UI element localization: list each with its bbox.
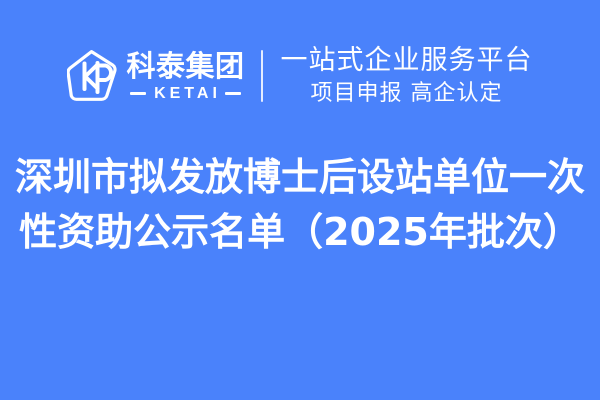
brand-name-cn: 科泰集团 [126,51,244,82]
brand-name-en: KETAI [150,85,221,102]
page-title-line-1: 深圳市拟发放博士后设站单位一次 [0,150,600,205]
brand-lockup: 科泰集团 KETAI [67,49,244,103]
brand-name-en-row: KETAI [126,85,244,102]
brand-rule-left-icon [130,92,146,95]
page-title: 深圳市拟发放博士后设站单位一次 性资助公示名单（2025年批次） [0,150,600,260]
header-divider [261,50,263,102]
tagline-block: 一站式企业服务平台 项目申报 高企认定 [281,45,533,107]
page-title-line-2: 性资助公示名单（2025年批次） [0,205,600,260]
tagline-primary: 一站式企业服务平台 [281,45,533,77]
brand-rule-right-icon [225,92,241,95]
ketai-kp-monogram-icon [67,49,117,103]
tagline-secondary: 项目申报 高企认定 [311,81,503,107]
promo-banner: 科泰集团 KETAI 一站式企业服务平台 项目申报 高企认定 深圳市拟发放博士后… [0,0,600,400]
banner-header: 科泰集团 KETAI 一站式企业服务平台 项目申报 高企认定 [0,38,600,114]
brand-wordmark: 科泰集团 KETAI [126,51,244,102]
